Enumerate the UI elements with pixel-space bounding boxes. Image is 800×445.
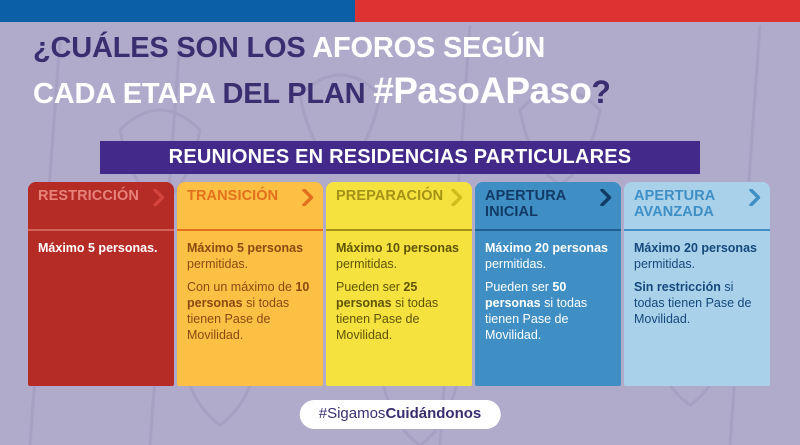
chevron-right-icon[interactable] xyxy=(599,189,612,206)
footer-hashtag-light: #Sigamos xyxy=(319,405,386,422)
phase-text: Pueden ser xyxy=(336,280,403,294)
footer-hashtag-pill: #SigamosCuidándonos xyxy=(300,400,501,429)
phase-column-transicion[interactable]: TRANSICIÓNMáximo 5 personas permitidas.C… xyxy=(177,182,323,386)
phase-text-strong: Máximo 10 personas xyxy=(336,241,459,255)
phase-columns: RESTRICCIÓNMáximo 5 personas.TRANSICIÓNM… xyxy=(28,182,776,386)
phase-header-apertura-avanzada: APERTURA AVANZADA xyxy=(624,182,770,229)
phase-body-restriccion: Máximo 5 personas. xyxy=(28,231,174,386)
phase-body-apertura-inicial: Máximo 20 personas permitidas.Pueden ser… xyxy=(475,231,621,386)
headline-line-1: ¿CUÁLES SON LOS AFOROS SEGÚN xyxy=(33,34,611,63)
phase-paragraph: Con un máximo de 10 personas si todas ti… xyxy=(187,279,314,343)
phase-text: permitidas. xyxy=(485,257,546,271)
phase-paragraph: Máximo 20 personas permitidas. xyxy=(634,240,761,272)
phase-text-strong: Máximo 20 personas xyxy=(634,241,757,255)
headline-line1-part1: ¿CUÁLES SON LOS xyxy=(33,32,312,64)
phase-column-apertura-inicial[interactable]: APERTURA INICIALMáximo 20 personas permi… xyxy=(475,182,621,386)
phase-title-preparacion: PREPARACIÓN xyxy=(336,188,440,204)
chevron-right-icon[interactable] xyxy=(748,189,761,206)
top-flag-bar xyxy=(0,0,800,22)
page-title: ¿CUÁLES SON LOS AFOROS SEGÚN CADA ETAPA … xyxy=(33,34,611,109)
headline-line2-part2: DEL PLAN xyxy=(223,78,374,110)
headline-hashtag: #PasoAPaso xyxy=(373,70,591,111)
phase-paragraph: Sin restricción si todas tienen Pase de … xyxy=(634,279,761,327)
phase-paragraph: Máximo 5 personas permitidas. xyxy=(187,240,314,272)
phase-title-apertura-avanzada: APERTURA AVANZADA xyxy=(634,188,738,220)
phase-title-apertura-inicial: APERTURA INICIAL xyxy=(485,188,589,220)
headline-question-mark: ? xyxy=(591,74,610,110)
flag-segment-blue xyxy=(0,0,355,22)
phase-paragraph: Máximo 20 personas permitidas. xyxy=(485,240,612,272)
phase-column-apertura-avanzada[interactable]: APERTURA AVANZADAMáximo 20 personas perm… xyxy=(624,182,770,386)
chevron-right-icon[interactable] xyxy=(450,189,463,206)
phase-body-preparacion: Máximo 10 personas permitidas.Pueden ser… xyxy=(326,231,472,386)
chevron-right-icon[interactable] xyxy=(301,189,314,206)
phase-paragraph: Pueden ser 25 personas si todas tienen P… xyxy=(336,279,463,343)
phase-title-restriccion: RESTRICCIÓN xyxy=(38,188,142,204)
phase-body-apertura-avanzada: Máximo 20 personas permitidas.Sin restri… xyxy=(624,231,770,386)
phase-text-strong: Máximo 5 personas xyxy=(187,241,303,255)
headline-line2-part1: CADA ETAPA xyxy=(33,78,223,110)
headline-line1-part2: AFOROS SEGÚN xyxy=(312,32,545,64)
section-banner-title: REUNIONES EN RESIDENCIAS PARTICULARES xyxy=(169,146,632,169)
phase-column-restriccion[interactable]: RESTRICCIÓNMáximo 5 personas. xyxy=(28,182,174,386)
phase-header-preparacion: PREPARACIÓN xyxy=(326,182,472,229)
footer-hashtag-text: #SigamosCuidándonos xyxy=(319,405,482,422)
phase-text: permitidas. xyxy=(187,257,248,271)
phase-body-transicion: Máximo 5 personas permitidas.Con un máxi… xyxy=(177,231,323,386)
phase-title-transicion: TRANSICIÓN xyxy=(187,188,291,204)
phase-paragraph: Máximo 5 personas. xyxy=(38,240,165,256)
phase-text: permitidas. xyxy=(336,257,397,271)
phase-header-restriccion: RESTRICCIÓN xyxy=(28,182,174,229)
phase-header-transicion: TRANSICIÓN xyxy=(177,182,323,229)
phase-header-apertura-inicial: APERTURA INICIAL xyxy=(475,182,621,229)
phase-text: Con un máximo de xyxy=(187,280,295,294)
headline-line-2: CADA ETAPA DEL PLAN #PasoAPaso? xyxy=(33,72,611,109)
phase-column-preparacion[interactable]: PREPARACIÓNMáximo 10 personas permitidas… xyxy=(326,182,472,386)
phase-text: Pueden ser xyxy=(485,280,552,294)
chevron-right-icon[interactable] xyxy=(152,189,165,206)
flag-segment-red xyxy=(355,0,800,22)
phase-paragraph: Pueden ser 50 personas si todas tienen P… xyxy=(485,279,612,343)
footer-hashtag-bold: Cuidándonos xyxy=(385,405,481,422)
phase-text-strong: Máximo 5 personas. xyxy=(38,241,158,255)
phase-text-strong: Máximo 20 personas xyxy=(485,241,608,255)
phase-text-strong: Sin restricción xyxy=(634,280,721,294)
phase-paragraph: Máximo 10 personas permitidas. xyxy=(336,240,463,272)
phase-text: permitidas. xyxy=(634,257,695,271)
section-banner: REUNIONES EN RESIDENCIAS PARTICULARES xyxy=(100,141,700,174)
